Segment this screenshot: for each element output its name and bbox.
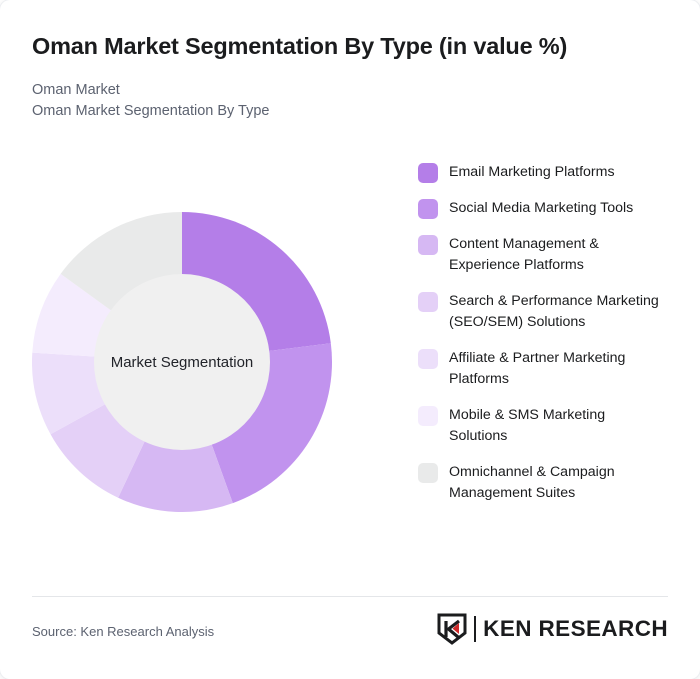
legend-item[interactable]: Content Management & Experience Platform… [418,234,676,276]
source-note: Source: Ken Research Analysis [32,624,214,639]
legend-item[interactable]: Email Marketing Platforms [418,162,676,183]
footer-divider [32,596,668,597]
page-title: Oman Market Segmentation By Type (in val… [32,32,672,60]
legend-item[interactable]: Omnichannel & Campaign Management Suites [418,462,676,504]
breadcrumb: Oman Market Oman Market Segmentation By … [32,80,632,122]
ken-research-k-mark-icon [437,613,467,645]
breadcrumb-item-market: Oman Market [32,80,632,101]
breadcrumb-item-segmentation: Oman Market Segmentation By Type [32,101,632,122]
legend-item-label: Omnichannel & Campaign Management Suites [449,462,664,504]
chart-legend: Email Marketing PlatformsSocial Media Ma… [418,162,676,519]
chart-area: Market Segmentation Email Marketing Plat… [0,140,700,580]
legend-swatch-icon [418,349,438,369]
legend-item-label: Mobile & SMS Marketing Solutions [449,405,664,447]
brand-name: KEN RESEARCH [483,616,668,642]
legend-item-label: Email Marketing Platforms [449,162,615,183]
brand-logo: KEN RESEARCH [437,612,668,646]
chart-card: Oman Market Segmentation By Type (in val… [0,0,700,679]
donut-svg [32,211,332,513]
legend-item-label: Content Management & Experience Platform… [449,234,664,276]
legend-item[interactable]: Affiliate & Partner Marketing Platforms [418,348,676,390]
legend-item-label: Social Media Marketing Tools [449,198,633,219]
donut-chart: Market Segmentation [32,211,332,513]
legend-swatch-icon [418,292,438,312]
legend-swatch-icon [418,235,438,255]
donut-hole [94,274,270,450]
legend-item-label: Affiliate & Partner Marketing Platforms [449,348,664,390]
legend-item[interactable]: Mobile & SMS Marketing Solutions [418,405,676,447]
legend-swatch-icon [418,463,438,483]
legend-item[interactable]: Search & Performance Marketing (SEO/SEM)… [418,291,676,333]
legend-item[interactable]: Social Media Marketing Tools [418,198,676,219]
legend-item-label: Search & Performance Marketing (SEO/SEM)… [449,291,664,333]
legend-swatch-icon [418,406,438,426]
brand-divider [474,616,476,642]
legend-swatch-icon [418,199,438,219]
legend-swatch-icon [418,163,438,183]
